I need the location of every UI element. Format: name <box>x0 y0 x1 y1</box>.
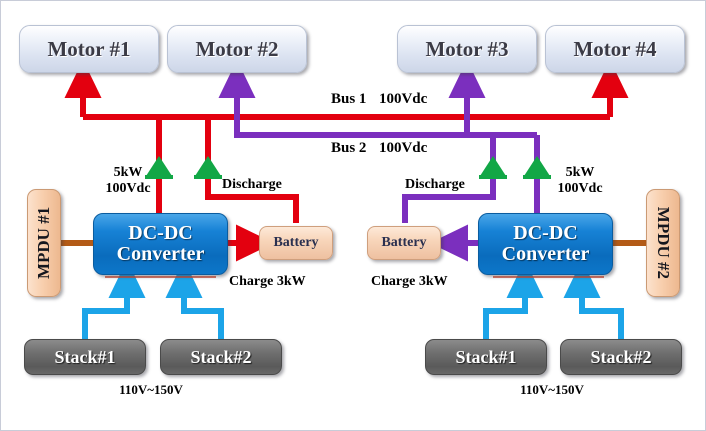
stack-label-left-1: Stack#1 <box>54 348 115 367</box>
battery-label-left: Battery <box>273 236 318 251</box>
stack-block-right-1[interactable]: Stack#1 <box>425 339 547 375</box>
mpdu-label-2: MPDU #2 <box>654 207 672 279</box>
dc-dc-converter-right[interactable]: DC-DC Converter <box>478 213 613 275</box>
motor-block-1[interactable]: Motor #1 <box>19 25 159 73</box>
motor-label-3: Motor #3 <box>425 38 508 60</box>
motor-label-1: Motor #1 <box>47 38 130 60</box>
motor-block-2[interactable]: Motor #2 <box>167 25 307 73</box>
converter-line1-left: DC-DC <box>128 223 192 244</box>
battery-label-right: Battery <box>381 236 426 251</box>
discharge-label-right: Discharge <box>405 177 465 193</box>
mpdu-block-2[interactable]: MPDU #2 <box>646 189 680 297</box>
mpdu-block-1[interactable]: MPDU #1 <box>27 189 61 297</box>
stack-voltage-label-left: 110V~150V <box>76 383 226 398</box>
bus2-label-group: Bus 2 100Vdc <box>331 140 427 157</box>
diode-right-2 <box>523 156 551 177</box>
bus2-name: Bus 2 <box>331 140 366 156</box>
bus1-voltage: 100Vdc <box>379 91 427 107</box>
battery-block-left[interactable]: Battery <box>259 226 333 260</box>
motor-block-4[interactable]: Motor #4 <box>545 25 685 73</box>
diode-left-2 <box>194 156 222 177</box>
bus1-trunk-left <box>83 79 349 117</box>
discharge-label-left: Discharge <box>222 177 282 193</box>
stack-block-left-2[interactable]: Stack#2 <box>160 339 282 375</box>
stack-voltage-label-right: 110V~150V <box>477 383 627 398</box>
rating-voltage-left: 100Vdc <box>99 181 157 197</box>
stack-label-right-2: Stack#2 <box>590 348 651 367</box>
charge-label-left: Charge 3kW <box>229 274 306 290</box>
converter-line2-right: Converter <box>502 244 590 265</box>
converter-line1-right: DC-DC <box>513 223 577 244</box>
converter-line2-left: Converter <box>117 244 205 265</box>
diagram-canvas: Motor #1 Motor #2 Motor #3 Motor #4 Bus … <box>0 0 706 431</box>
rating-voltage-right: 100Vdc <box>551 181 609 197</box>
bus1-name: Bus 1 <box>331 91 366 107</box>
bus1-label-group: Bus 1 100Vdc <box>331 91 427 108</box>
battery-block-right[interactable]: Battery <box>367 226 441 260</box>
mpdu-label-1: MPDU #1 <box>35 207 53 279</box>
motor-label-2: Motor #2 <box>195 38 278 60</box>
dc-dc-converter-left[interactable]: DC-DC Converter <box>93 213 228 275</box>
charge-label-right: Charge 3kW <box>371 274 448 290</box>
stack-block-left-1[interactable]: Stack#1 <box>24 339 146 375</box>
rating-power-left: 5kW <box>99 165 157 181</box>
stack-label-right-1: Stack#1 <box>455 348 516 367</box>
rating-power-right: 5kW <box>551 165 609 181</box>
stack-label-left-2: Stack#2 <box>190 348 251 367</box>
stack-block-right-2[interactable]: Stack#2 <box>560 339 682 375</box>
motor-block-3[interactable]: Motor #3 <box>397 25 537 73</box>
bus2-voltage: 100Vdc <box>379 140 427 156</box>
motor-label-4: Motor #4 <box>573 38 656 60</box>
diode-right-1 <box>479 156 507 177</box>
rating-label-right: 5kW 100Vdc <box>551 165 609 196</box>
rating-label-left: 5kW 100Vdc <box>99 165 157 196</box>
